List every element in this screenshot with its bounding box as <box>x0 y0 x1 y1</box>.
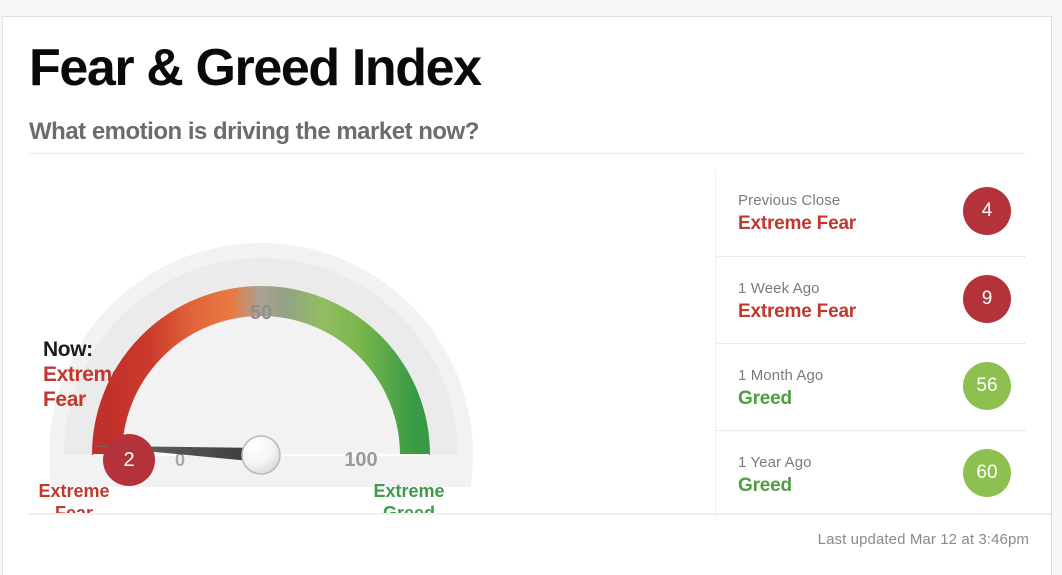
page-subtitle: What emotion is driving the market now? <box>29 117 479 147</box>
history-score-badge: 60 <box>963 449 1011 497</box>
footer-divider <box>29 513 1051 515</box>
browser-viewport: Fear & Greed Index What emotion is drivi… <box>0 0 1062 575</box>
header-divider <box>29 153 1025 154</box>
history-row-one-week[interactable]: 1 Week Ago Extreme Fear 9 <box>716 256 1025 343</box>
gauge-tick-mid: 50 <box>250 302 272 324</box>
history-row-previous-close[interactable]: Previous Close Extreme Fear 4 <box>716 169 1025 256</box>
history-panel: Previous Close Extreme Fear 4 1 Week Ago… <box>715 169 1025 517</box>
gauge-needle-hub <box>242 436 280 474</box>
history-score-badge: 9 <box>963 275 1011 323</box>
gauge-right-zone-line1: Extreme <box>373 481 444 501</box>
gauge-left-zone-line1: Extreme <box>38 481 109 501</box>
fear-greed-card: Fear & Greed Index What emotion is drivi… <box>2 16 1052 575</box>
history-row-one-year[interactable]: 1 Year Ago Greed 60 <box>716 430 1025 517</box>
current-reading-value: Extreme Fear <box>43 362 163 412</box>
current-reading: Now: Extreme Fear <box>43 337 163 412</box>
current-reading-label: Now: <box>43 337 163 362</box>
history-score-badge: 56 <box>963 362 1011 410</box>
current-score-badge: 2 <box>103 434 155 486</box>
history-score-badge: 4 <box>963 187 1011 235</box>
last-updated-text: Last updated Mar 12 at 3:46pm <box>818 531 1029 548</box>
history-row-one-month[interactable]: 1 Month Ago Greed 56 <box>716 343 1025 430</box>
page-title: Fear & Greed Index <box>29 39 481 97</box>
gauge-tick-max: 100 <box>344 449 377 471</box>
